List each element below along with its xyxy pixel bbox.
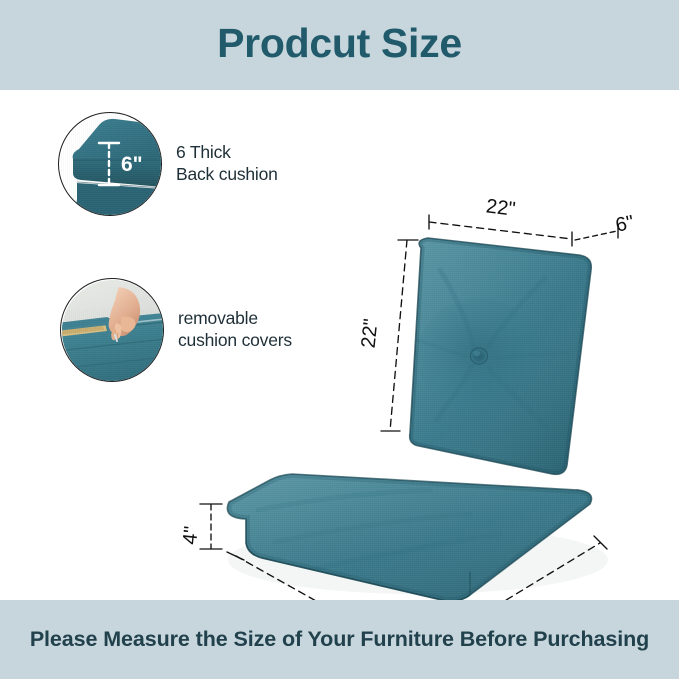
feature-back-thickness: 6" 6 Thick Back cushion xyxy=(58,112,278,216)
tufted-button xyxy=(471,348,488,364)
dimension-back-width: 22" xyxy=(485,195,517,220)
feature-removable-covers-label: removable cushion covers xyxy=(178,308,292,351)
back-cushion xyxy=(400,230,610,490)
cushion-thickness-photo: 6" xyxy=(58,112,162,216)
dimension-seat-thickness: 4" xyxy=(179,525,203,545)
leader-back-width xyxy=(429,222,572,239)
zipper-hand-photo xyxy=(60,278,164,382)
dimension-back-height: 22" xyxy=(358,318,383,349)
feature-removable-covers: removable cushion covers xyxy=(60,278,292,382)
thickness-marker-label: 6" xyxy=(121,153,143,176)
dimension-back-depth: 6" xyxy=(614,211,636,236)
leader-back-height xyxy=(390,240,407,431)
feature-back-thickness-label: 6 Thick Back cushion xyxy=(176,142,278,185)
page-title: Prodcut Size xyxy=(217,23,462,68)
leader-back-depth xyxy=(575,231,617,240)
footer-note: Please Measure the Size of Your Furnitur… xyxy=(2,626,677,654)
tick-seat-width-end xyxy=(594,536,607,549)
product-diagram: 22" 6" 22" 4" 22" 24" xyxy=(0,90,679,600)
footer-banner: Please Measure the Size of Your Furnitur… xyxy=(0,600,679,679)
header-banner: Prodcut Size xyxy=(0,0,679,90)
